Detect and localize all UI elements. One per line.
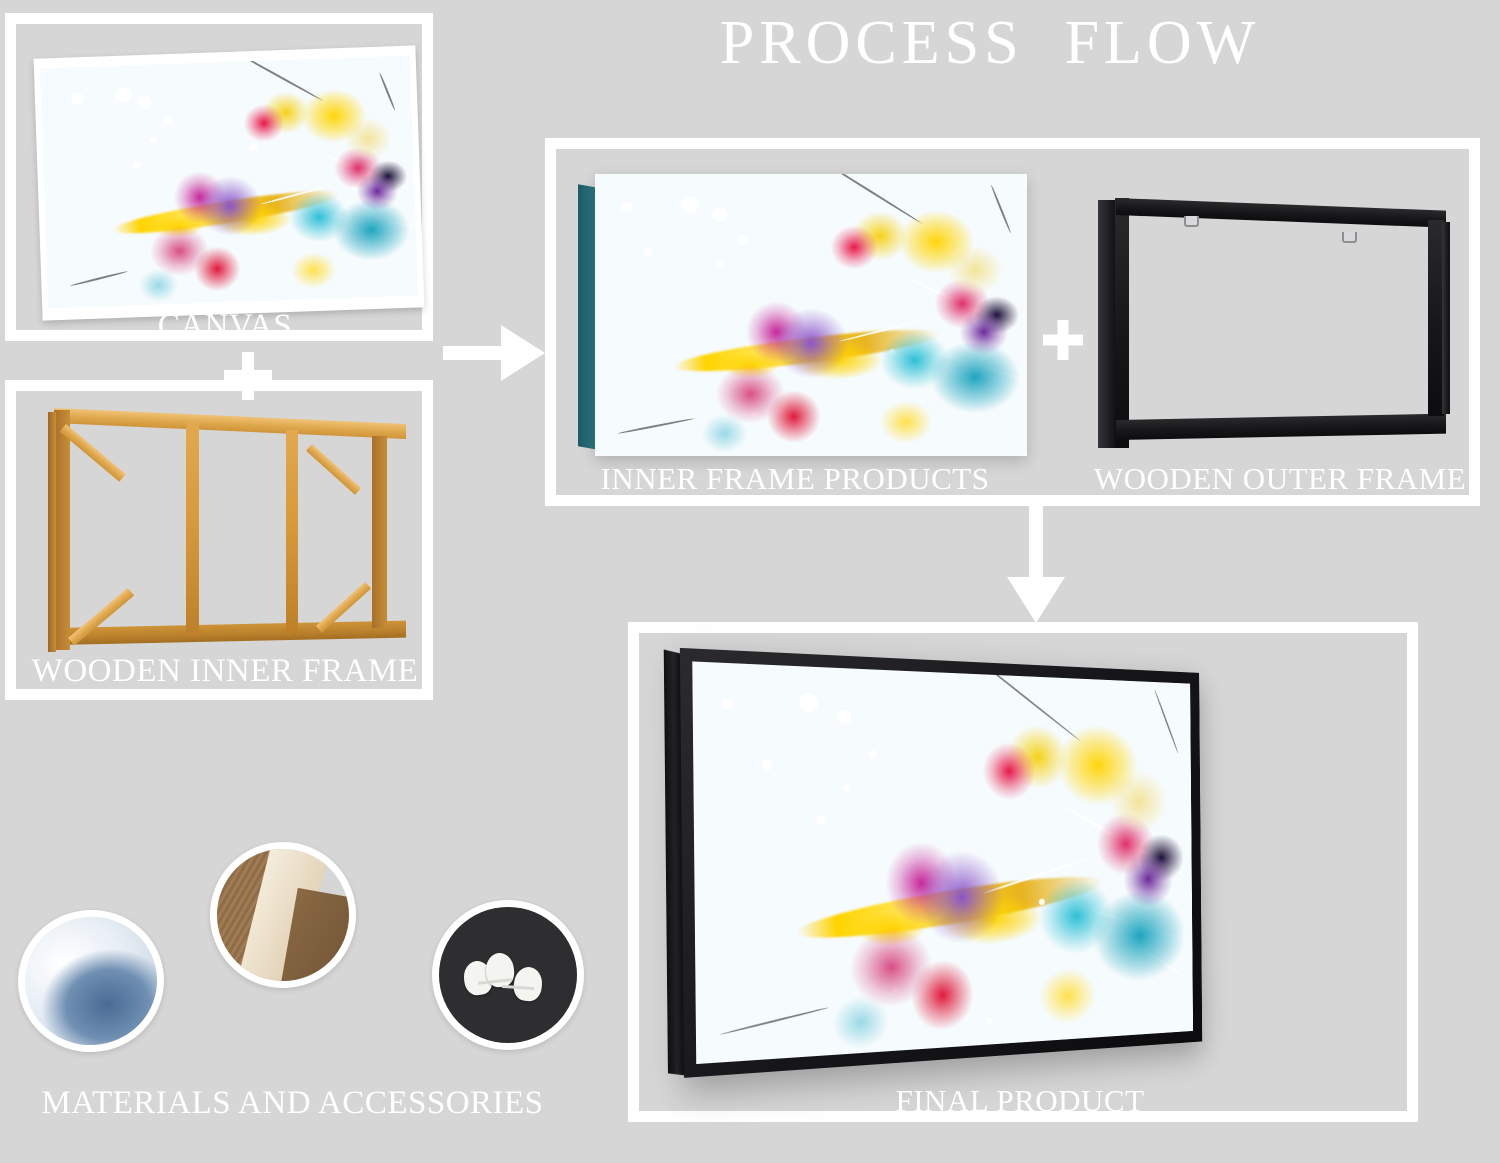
framed-canvas-artwork xyxy=(682,648,1358,1088)
hanging-hook-icon xyxy=(1342,232,1357,243)
plus-icon-inner-outer xyxy=(1043,320,1083,360)
abstract-artwork xyxy=(595,174,1027,456)
ink-droplets xyxy=(595,174,1027,456)
gallery-wrapped-canvas xyxy=(578,168,1030,458)
ink-droplets xyxy=(40,56,418,309)
step-label-wooden-inner-frame: WOODEN INNER FRAME xyxy=(20,655,430,688)
black-wooden-frame xyxy=(1098,196,1450,448)
material-wall-hooks xyxy=(432,900,584,1050)
arrow-right-icon xyxy=(443,325,543,381)
step-label-final-product: FINAL PRODUCT xyxy=(820,1085,1220,1116)
gold-ink-band xyxy=(111,183,341,240)
materials-section-label: MATERIALS AND ACCESSORIES xyxy=(35,1087,550,1120)
material-wood-strips xyxy=(210,842,356,988)
material-canvas-roll xyxy=(9,901,173,1062)
wooden-stretcher-frame xyxy=(40,400,420,670)
abstract-artwork xyxy=(692,661,1193,1064)
step-label-wooden-outer-frame: WOODEN OUTER FRAME xyxy=(1085,463,1475,494)
hanging-hook-icon xyxy=(1184,216,1199,227)
step-label-canvas: CANVAS xyxy=(80,310,370,343)
gold-ink-band xyxy=(672,321,941,379)
arrow-down-icon xyxy=(1007,505,1065,623)
ink-droplets xyxy=(692,661,1193,1064)
abstract-artwork xyxy=(40,56,418,309)
step-label-inner-frame-products: INNER FRAME PRODUCTS xyxy=(560,463,1030,494)
page-title: PROCESS FLOW xyxy=(640,12,1340,74)
infographic-canvas: PROCESS FLOW CANVAS xyxy=(0,0,1500,1163)
canvas-print-image xyxy=(34,45,425,320)
gold-ink-band xyxy=(795,867,1104,951)
